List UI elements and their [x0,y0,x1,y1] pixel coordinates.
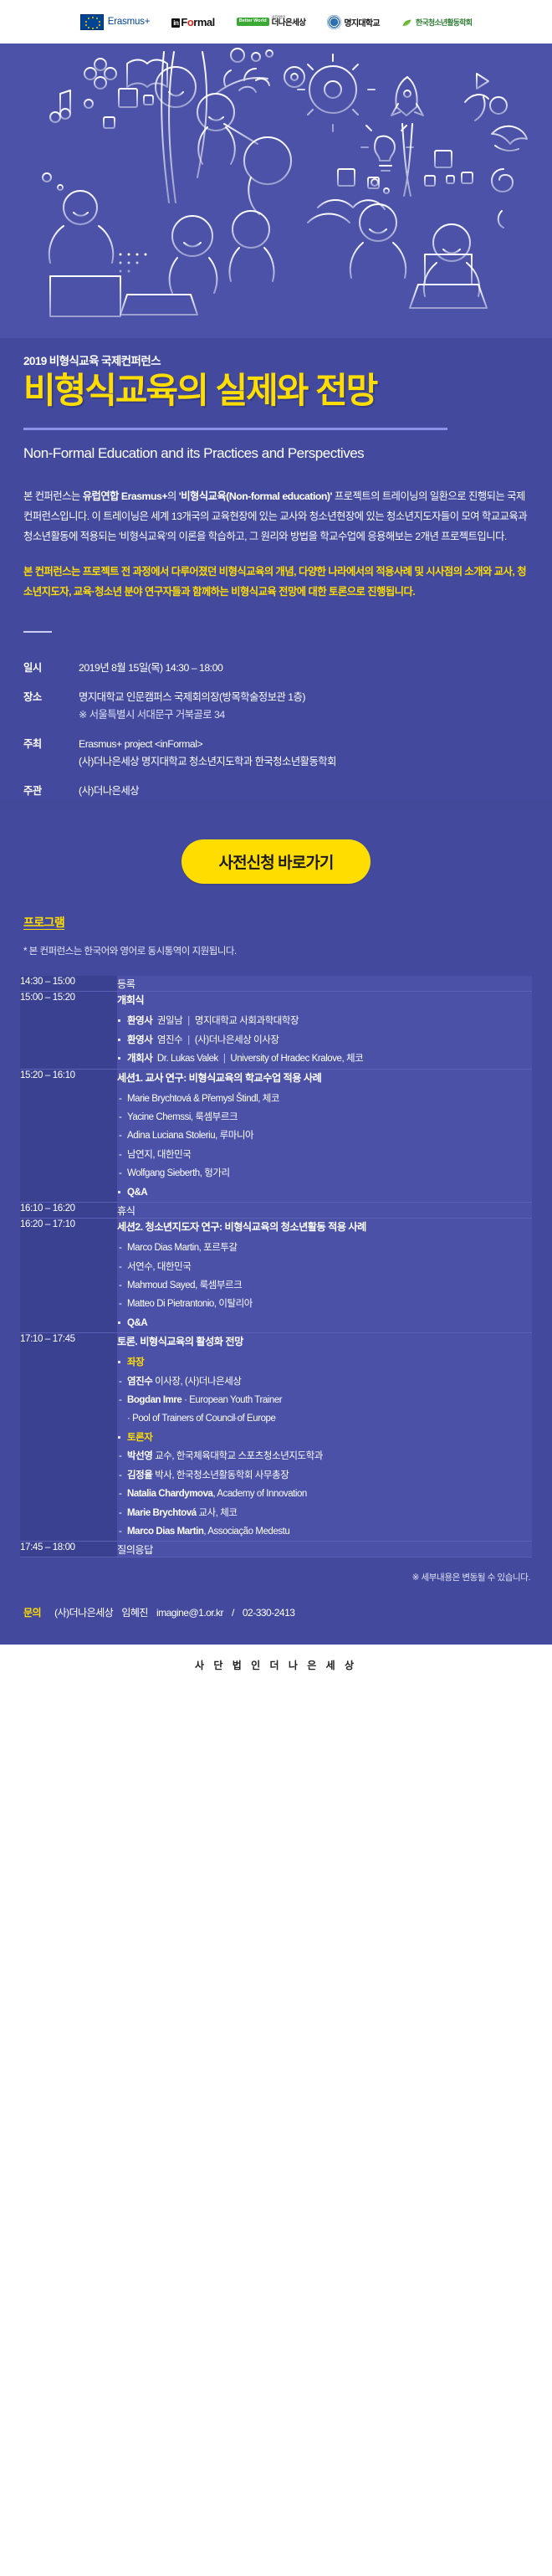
list-item: 환영사 염진수|(사)더나은세상 이사장 [117,1031,532,1049]
contact-section: 문의 (사)더나은세상임혜진imagine@1.or.kr/02-330-241… [0,1605,552,1645]
panelist-affiliation: 이사장, (사)더나은세상 [152,1377,241,1387]
list-item: Bogdan Imre · European Youth Trainer [117,1391,532,1409]
speaker-name: 권일남 [157,1016,182,1026]
separator: | [223,1054,226,1064]
intro-p1-mid: 의 [167,490,179,502]
schedule-content: 개회식 환영사 권일남|명지대학교 사회과학대학장 환영사 염진수|(사)더나은… [117,992,532,1069]
list-item: Mahmoud Sayed, 룩셈부르크 [117,1276,532,1295]
schedule-content: 등록 [117,976,532,992]
list-item-qa: Q&A [117,1314,532,1332]
cta-section: 사전신청 바로가기 [0,811,552,914]
myongji-label: 명지대학교 [344,16,380,28]
speaker-role: 환영사 [127,1035,152,1045]
panelist-affiliation: 박사, 한국청소년활동학회 사무총장 [152,1470,289,1480]
erasmus-plus-label: Erasmus+ [108,17,151,27]
detail-value-organizer: (사)더나은세상 [79,783,139,801]
event-kicker: 2019 비형식교육 국제컨퍼런스 [23,352,529,368]
korea-youth-activity-label: 한국청소년활동학회 [416,17,472,28]
host-organizations: (사)더나은세상 명지대학교 청소년지도학과 한국청소년활동학회 [79,756,336,767]
program-footnote: ※ 세부내용은 변동될 수 있습니다. [0,1557,552,1605]
list-item-group-panel: 토론자 [117,1429,532,1447]
panelist-name: 박선영 [127,1451,152,1461]
separator: | [187,1035,190,1045]
table-row: 17:45 – 18:00 질의응답 [20,1542,532,1557]
page-subtitle: Non-Formal Education and its Practices a… [23,445,529,487]
program-heading: 프로그램 [20,914,532,931]
session-items: Marco Dias Martin, 포르투갈 서연수, 대한민국 Mahmou… [117,1239,532,1332]
schedule-time: 15:00 – 15:20 [20,992,117,1069]
pre-registration-button[interactable]: 사전신청 바로가기 [181,839,370,884]
schedule-content: 세션1. 교사 연구: 비형식교육의 학교수업 적용 사례 Marie Bryc… [117,1069,532,1203]
intro-section: 본 컨퍼런스는 유럽연합 Erasmus+의 '비형식교육(Non-formal… [0,487,552,659]
session-title: 등록 [117,976,532,991]
informal-in-badge: in [171,18,180,28]
list-item: Wolfgang Sieberth, 헝가리 [117,1164,532,1183]
hero-illustration [0,44,552,338]
list-item: 김정율 박사, 한국청소년활동학회 사무총장 [117,1466,532,1485]
qa-label: Q&A [127,1318,147,1328]
intro-paragraph-2: 본 컨퍼런스는 프로젝트 전 과정에서 다루어졌던 비형식교육의 개념, 다양한… [23,562,529,603]
venue-name: 명지대학교 인문캠퍼스 국제회의장(방목학술정보관 1층) [79,691,305,703]
detail-label-date: 일시 [23,659,79,678]
list-item: 환영사 권일남|명지대학교 사회과학대학장 [117,1012,532,1030]
schedule-content: 질의응답 [117,1542,532,1557]
speaker-role: 개회사 [127,1054,152,1064]
schedule-time: 14:30 – 15:00 [20,976,117,992]
schedule-time: 16:20 – 17:10 [20,1219,117,1333]
intro-p1-bold-1: 유럽연합 Erasmus+ [83,490,167,502]
speaker-affiliation: (사)더나은세상 이사장 [195,1035,279,1045]
panelist-name: Bogdan Imre [127,1395,181,1405]
detail-row-date: 일시 2019년 8월 15일(목) 14:30 – 18:00 [23,659,529,678]
sponsor-logo-bar: Erasmus+ in Formal Better World 사단법인 더나은… [0,0,552,44]
table-row: 14:30 – 15:00 등록 [20,976,532,992]
list-item-sub: · Pool of Trainers of Council of Europe [117,1409,532,1428]
session-items: 좌장 염진수 이사장, (사)더나은세상 Bogdan Imre · Europ… [117,1353,532,1541]
list-item: Natalia Chardymova, Academy of Innovatio… [117,1485,532,1503]
program-note: * 본 컨퍼런스는 한국어와 영어로 동시통역이 지원됩니다. [20,944,532,957]
session-title: 휴식 [117,1203,532,1218]
hero-doodle-artwork [0,44,552,338]
title-section: 2019 비형식교육 국제컨퍼런스 비형식교육의 실제와 전망 Non-Form… [0,338,552,487]
contact-email[interactable]: imagine@1.or.kr [156,1607,223,1619]
detail-row-venue: 장소 명지대학교 인문캠퍼스 국제회의장(방목학술정보관 1층) ※ 서울특별시… [23,689,529,725]
schedule-content: 세션2. 청소년지도자 연구: 비형식교육의 청소년활동 적용 사례 Marco… [117,1219,532,1333]
session-items: Marie Brychtová & Přemysl Štindl, 체코 Yac… [117,1090,532,1203]
list-item: Yacine Chemssi, 룩셈부르크 [117,1108,532,1126]
separator: | [187,1016,190,1026]
schedule-time: 17:45 – 18:00 [20,1542,117,1557]
host-project: Erasmus+ project <inFormal> [79,738,202,750]
myongji-emblem-icon [327,15,341,29]
list-item: Matteo Di Pietrantonio, 이탈리아 [117,1295,532,1313]
detail-value-venue: 명지대학교 인문캠퍼스 국제회의장(방목학술정보관 1층) ※ 서울특별시 서대… [79,689,305,725]
list-item: 개회사 Dr. Lukas Valek|University of Hradec… [117,1049,532,1068]
list-item-qa: Q&A [117,1183,532,1202]
schedule-time: 16:10 – 16:20 [20,1203,117,1219]
erasmus-plus-logo: Erasmus+ [80,12,151,32]
panelist-affiliation: 교수, 한국체육대학교 스포츠청소년지도학과 [152,1451,322,1461]
schedule-content: 토론. 비형식교육의 활성화 전망 좌장 염진수 이사장, (사)더나은세상 B… [117,1333,532,1542]
table-row: 16:10 – 16:20 휴식 [20,1203,532,1219]
list-item: Marie Brychtová 교사, 체코 [117,1504,532,1522]
schedule-time: 17:10 – 17:45 [20,1333,117,1542]
speaker-role: 환영사 [127,1016,152,1026]
session-title: 토론. 비형식교육의 활성화 전망 [117,1333,532,1348]
session-title: 질의응답 [117,1542,532,1557]
informal-label: Formal [181,16,214,28]
session-title: 개회식 [117,992,532,1007]
speaker-affiliation: University of Hradec Kralove, 체코 [230,1054,363,1064]
panelist-name: Natalia Chardymova [127,1489,212,1499]
list-item: Marco Dias Martin, 포르투갈 [117,1239,532,1257]
leaf-icon [401,16,413,28]
program-schedule-table: 14:30 – 15:00 등록 15:00 – 15:20 개회식 환영사 권… [20,976,532,1557]
detail-value-host: Erasmus+ project <inFormal> (사)더나은세상 명지대… [79,736,336,772]
list-item: 서연수, 대한민국 [117,1258,532,1276]
schedule-time: 15:20 – 16:10 [20,1069,117,1203]
group-label-panelists: 토론자 [127,1433,152,1443]
list-item: Marie Brychtová & Přemysl Štindl, 체코 [117,1090,532,1108]
intro-p1-bold-2: '비형식교육(Non-formal education)' [179,490,332,502]
speaker-name: 염진수 [157,1035,182,1045]
intro-p1-pre: 본 컨퍼런스는 [23,490,83,502]
venue-address: ※ 서울특별시 서대문구 거북골로 34 [79,709,225,721]
footer-brand: 사 단 법 인 더 나 은 세 상 [0,1645,552,1687]
detail-label-host: 주최 [23,736,79,772]
speaker-name: Dr. Lukas Valek [157,1054,218,1064]
panelist-affiliation: , Associação Medestu [203,1527,289,1537]
qa-label: Q&A [127,1188,147,1198]
contact-value: (사)더나은세상임혜진imagine@1.or.kr/02-330-2413 [54,1605,294,1619]
contact-phone[interactable]: 02-330-2413 [243,1607,295,1619]
korea-youth-activity-logo: 한국청소년활동학회 [401,16,472,28]
informal-logo: in Formal [171,16,214,28]
panelist-affiliation: · European Youth Trainer [181,1395,282,1405]
detail-value-date: 2019년 8월 15일(목) 14:30 – 18:00 [79,659,222,678]
list-item-group-chair: 좌장 [117,1353,532,1372]
section-divider [23,631,52,633]
detail-row-organizer: 주관 (사)더나은세상 [23,783,529,801]
list-item: Marco Dias Martin, Associação Medestu [117,1522,532,1541]
schedule-content: 휴식 [117,1203,532,1219]
better-world-mark: Better World [237,18,269,26]
program-section: 프로그램 * 본 컨퍼런스는 한국어와 영어로 동시통역이 지원됩니다. 14:… [0,914,552,1557]
panelist-name: 김정율 [127,1470,152,1480]
event-details: 일시 2019년 8월 15일(목) 14:30 – 18:00 장소 명지대학… [0,659,552,800]
panelist-affiliation: , Academy of Innovation [212,1489,306,1499]
contact-person: 임혜진 [121,1607,148,1619]
speaker-affiliation: 명지대학교 사회과학대학장 [195,1016,299,1026]
table-row: 16:20 – 17:10 세션2. 청소년지도자 연구: 비형식교육의 청소년… [20,1219,532,1333]
list-item: Adina Luciana Stoleriu, 루마니아 [117,1126,532,1145]
panelist-affiliation: 교사, 체코 [197,1508,238,1518]
page-title: 비형식교육의 실제와 전망 [23,372,529,409]
session-title: 세션1. 교사 연구: 비형식교육의 학교수업 적용 사례 [117,1070,532,1085]
contact-divider: / [232,1607,234,1619]
session-items: 환영사 권일남|명지대학교 사회과학대학장 환영사 염진수|(사)더나은세상 이… [117,1012,532,1068]
contact-label: 문의 [23,1605,41,1619]
conference-poster: Erasmus+ in Formal Better World 사단법인 더나은… [0,0,552,1687]
table-row: 15:20 – 16:10 세션1. 교사 연구: 비형식교육의 학교수업 적용… [20,1069,532,1203]
detail-row-host: 주최 Erasmus+ project <inFormal> (사)더나은세상 … [23,736,529,772]
better-world-logo: Better World 사단법인 더나은세상 [237,16,306,28]
myongji-university-logo: 명지대학교 [327,15,380,29]
contact-organization: (사)더나은세상 [54,1607,113,1619]
session-title: 세션2. 청소년지도자 연구: 비형식교육의 청소년활동 적용 사례 [117,1219,532,1234]
group-label-chair: 좌장 [127,1357,144,1368]
list-item: 남연지, 대한민국 [117,1146,532,1164]
panelist-name: Marie Brychtová [127,1508,197,1518]
table-row: 15:00 – 15:20 개회식 환영사 권일남|명지대학교 사회과학대학장 … [20,992,532,1069]
list-item: 박선영 교수, 한국체육대학교 스포츠청소년지도학과 [117,1447,532,1465]
table-row: 17:10 – 17:45 토론. 비형식교육의 활성화 전망 좌장 염진수 이… [20,1333,532,1542]
eu-flag-icon [80,14,104,30]
detail-label-venue: 장소 [23,689,79,725]
list-item: 염진수 이사장, (사)더나은세상 [117,1373,532,1391]
intro-paragraph-1: 본 컨퍼런스는 유럽연합 Erasmus+의 '비형식교육(Non-formal… [23,487,529,547]
panelist-name: 염진수 [127,1377,152,1387]
better-world-label: 더나은세상 [272,19,306,28]
title-divider [23,428,447,430]
panelist-name: Marco Dias Martin [127,1527,203,1537]
detail-label-organizer: 주관 [23,783,79,801]
